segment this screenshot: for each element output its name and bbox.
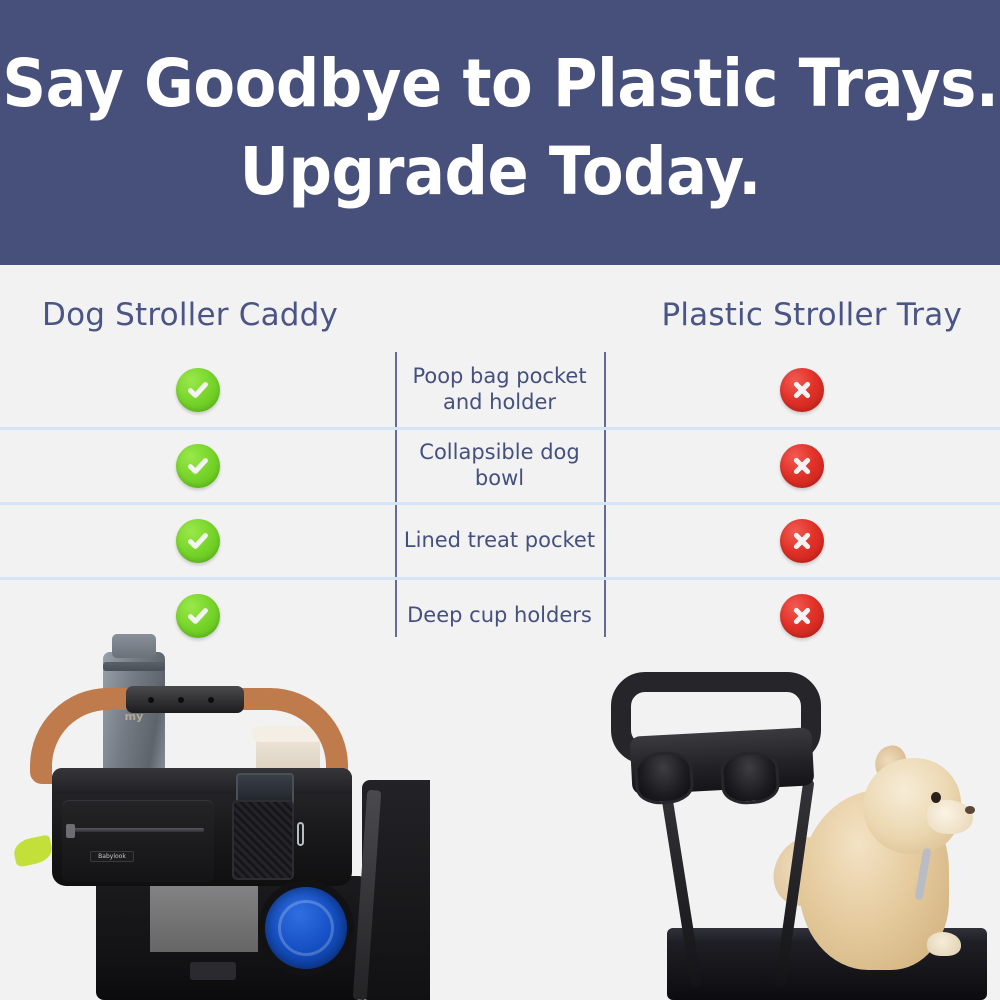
caddy-organizer-top [52,768,352,794]
red-cross-circle-icon [780,519,824,563]
comparison-rows: Poop bag pocket and holder Collapsible d… [0,352,1000,652]
dog-nose [965,806,975,814]
feature-text: Lined treat pocket [398,528,601,554]
column-header-plastic-stroller-tray: Plastic Stroller Tray [661,297,962,333]
zipper-pull [66,824,75,838]
tray-cup-holder [633,750,694,806]
header-banner: Say Goodbye to Plastic Trays. Upgrade To… [0,0,1000,265]
basket-mesh-panel [150,886,258,952]
handlebar-center-grip [126,686,244,713]
green-check-circle-icon [176,519,220,563]
table-row: Poop bag pocket and holder [0,352,1000,427]
mesh-side-pocket [232,800,294,880]
feature-text: Deep cup holders [401,603,598,629]
row-left-value [0,430,395,502]
dog-stroller-caddy-photo: LOVE my Babylook [0,640,430,1000]
comparison-column-headers: Dog Stroller Caddy Plastic Stroller Tray [0,297,1000,333]
product-photos: LOVE my Babylook [0,640,1000,1000]
dog-bowl-inner-ring [278,900,334,956]
row-left-value [0,505,395,577]
carabiner-clip [297,822,304,846]
table-row: Collapsible dog bowl [0,427,1000,502]
pocket-zipper [70,828,204,832]
basket-strap [190,962,236,980]
row-right-value [604,430,1000,502]
row-feature-label: Collapsible dog bowl [395,430,604,502]
dog-eye [931,792,941,803]
poop-bag [12,834,55,867]
feature-text: Collapsible dog bowl [395,440,604,491]
row-feature-label: Lined treat pocket [395,505,604,577]
water-bottle-cap [112,634,156,658]
red-cross-circle-icon [780,594,824,638]
red-cross-circle-icon [780,368,824,412]
feature-text: Poop bag pocket and holder [395,364,604,415]
row-feature-label: Poop bag pocket and holder [395,352,604,427]
water-bottle-ring [103,662,165,671]
red-cross-circle-icon [780,444,824,488]
row-left-value [0,352,395,427]
dog-muzzle [927,800,973,834]
green-check-circle-icon [176,368,220,412]
brand-tag: Babylook [90,851,134,862]
lined-treat-pocket [62,800,214,882]
banner-headline-line-1: Say Goodbye to Plastic Trays. [2,40,998,127]
row-right-value [604,505,1000,577]
table-row: Lined treat pocket [0,502,1000,577]
tray-cup-holder [719,750,780,806]
dog-paw [927,932,961,956]
comparison-infographic: Say Goodbye to Plastic Trays. Upgrade To… [0,0,1000,1000]
column-header-dog-stroller-caddy: Dog Stroller Caddy [42,297,338,333]
banner-headline-line-2: Upgrade Today. [239,128,760,215]
green-check-circle-icon [176,594,220,638]
green-check-circle-icon [176,444,220,488]
comparison-table: Dog Stroller Caddy Plastic Stroller Tray… [0,265,1000,640]
row-right-value [604,352,1000,427]
plastic-stroller-tray-photo [575,640,1000,1000]
